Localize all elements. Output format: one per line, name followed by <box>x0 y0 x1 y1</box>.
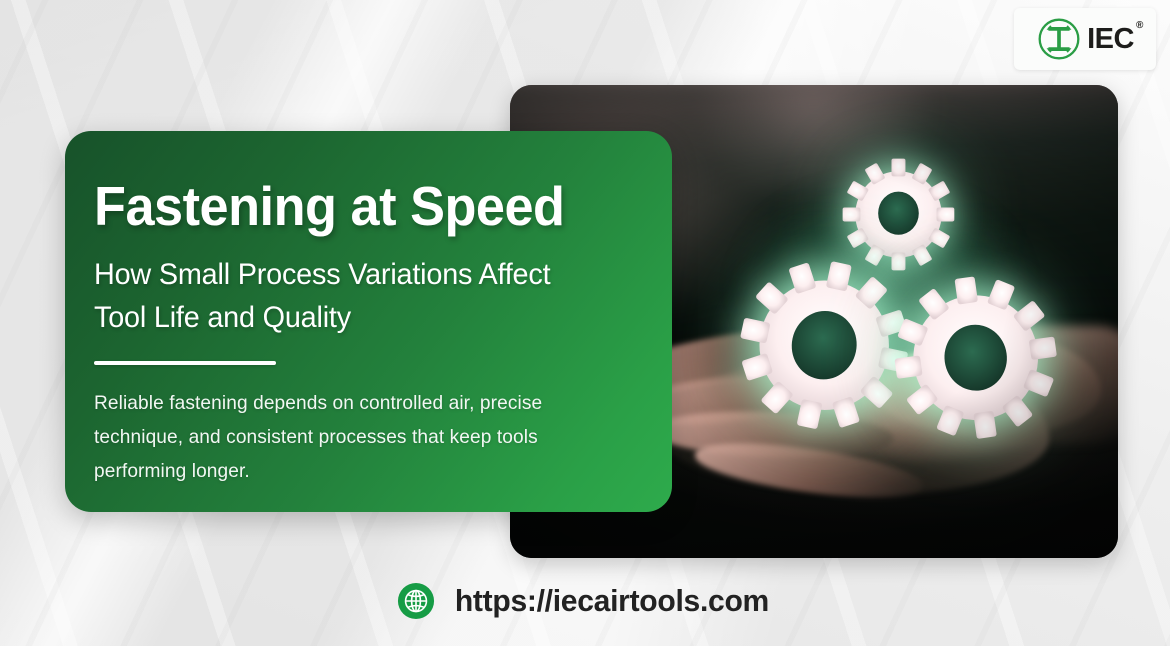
website-url[interactable]: https://iecairtools.com <box>454 583 768 619</box>
brand-logo-label: IEC <box>1087 23 1134 55</box>
brand-logo: IEC ® <box>1014 8 1156 70</box>
headline-card: Fastening at Speed How Small Process Var… <box>65 131 672 512</box>
page-subtitle: How Small Process Variations Affect Tool… <box>94 254 603 339</box>
globe-icon <box>397 582 435 620</box>
divider <box>94 361 276 365</box>
footer-url-bar: https://iecairtools.com <box>0 582 1170 620</box>
card-body-text: Reliable fastening depends on controlled… <box>94 387 555 489</box>
iec-circular-emblem-icon <box>1036 16 1082 62</box>
page-title: Fastening at Speed <box>94 179 603 234</box>
poster-canvas: IEC ® <box>0 0 1170 646</box>
registered-trademark-icon: ® <box>1136 21 1143 31</box>
brand-logo-text: IEC ® <box>1087 25 1134 54</box>
